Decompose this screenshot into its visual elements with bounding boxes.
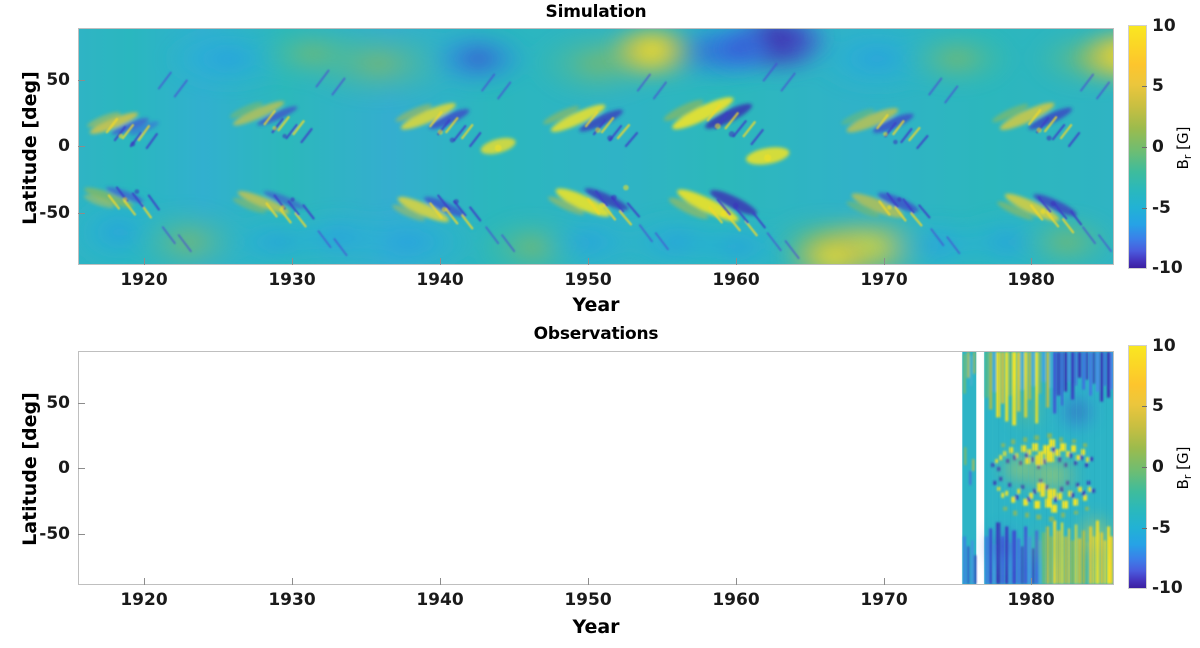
- colorbar-obs-tick-mark-minus-5: [1142, 528, 1147, 529]
- colorbar-obs-tick-label-10: 10: [1152, 336, 1176, 356]
- colorbar-obs-tick-mark-0: [1142, 467, 1147, 468]
- x-tick-label-obs-1960: 1960: [712, 590, 759, 610]
- x-tick-mark-obs-1970: [884, 578, 885, 585]
- x-tick-mark-obs-1940: [440, 578, 441, 585]
- colorbar-obs-tick-label-minus-10: -10: [1152, 578, 1183, 598]
- y-tick-label-obs-50: 50: [8, 393, 70, 413]
- axes-observations[interactable]: [78, 351, 1114, 585]
- heatmap-observations: [79, 352, 1113, 584]
- obs-data-strip-b: [978, 352, 1113, 584]
- x-axis-label-observations: Year: [78, 616, 1114, 638]
- colorbar-obs-tick-label-0: 0: [1152, 457, 1164, 477]
- y-tick-mark-obs-50: [78, 403, 85, 404]
- x-tick-mark-obs-1920: [144, 578, 145, 585]
- x-tick-mark-obs-1930: [292, 578, 293, 585]
- obs-data-strip-a: [962, 352, 976, 584]
- x-tick-label-obs-1950: 1950: [564, 590, 611, 610]
- x-tick-mark-obs-1980: [1031, 578, 1032, 585]
- y-tick-label-obs-0: 0: [8, 458, 70, 478]
- colorbar-obs-label-unit: [G]: [1174, 447, 1192, 475]
- panel-title-observations: Observations: [78, 324, 1114, 344]
- colorbar-obs-label-subscript: r: [1181, 475, 1194, 480]
- colorbar-obs-tick-label-5: 5: [1152, 396, 1164, 416]
- x-tick-label-obs-1920: 1920: [120, 590, 167, 610]
- x-tick-label-obs-1970: 1970: [860, 590, 907, 610]
- colorbar-obs-tick-mark-5: [1142, 406, 1147, 407]
- y-tick-mark-obs-0: [78, 468, 85, 469]
- colorbar-axis-label-observations: Br [G]: [1173, 403, 1193, 533]
- panel-observations: Observations Latitude [deg] 50 0 -50: [0, 0, 1200, 648]
- x-tick-label-obs-1980: 1980: [1007, 590, 1054, 610]
- x-tick-label-obs-1940: 1940: [416, 590, 463, 610]
- y-tick-mark-obs-minus-50: [78, 534, 85, 535]
- y-tick-label-obs-minus-50: -50: [8, 524, 70, 544]
- colorbar-obs-label-base: B: [1174, 479, 1192, 489]
- butterfly-diagram-figure: Simulation Latitude [deg] 50 0 -50: [0, 0, 1200, 648]
- x-tick-mark-obs-1960: [736, 578, 737, 585]
- x-tick-mark-obs-1950: [588, 578, 589, 585]
- colorbar-obs-tick-label-minus-5: -5: [1152, 518, 1171, 538]
- x-tick-label-obs-1930: 1930: [268, 590, 315, 610]
